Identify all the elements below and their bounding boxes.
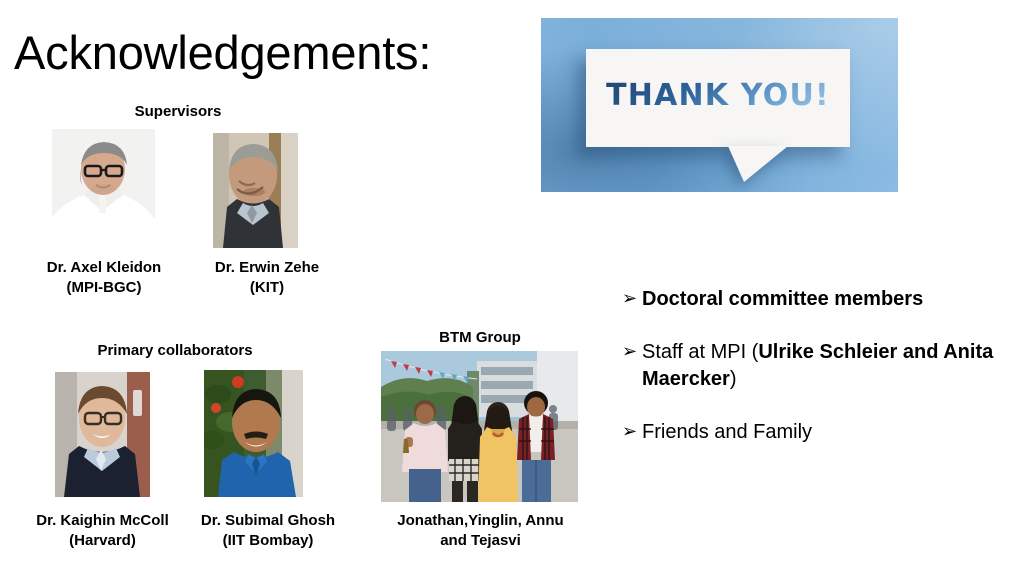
thank-you-text: THANK YOU!: [586, 78, 850, 113]
caption-affiliation-kaighin-mccoll: (Harvard): [10, 531, 195, 551]
bullet-tail-staff: ): [730, 368, 737, 390]
caption-kaighin-mccoll: Dr. Kaighin McColl (Harvard): [10, 511, 195, 552]
caption-subimal-ghosh: Dr. Subimal Ghosh (IIT Bombay): [178, 511, 358, 552]
caption-name-subimal-ghosh: Dr. Subimal Ghosh: [178, 511, 358, 531]
page-title: Acknowledgements:: [14, 28, 431, 77]
photo-kaighin-mccoll: [55, 372, 150, 497]
acknowledgement-bullet-list: ➢ Doctoral committee members ➢ Staff at …: [622, 286, 1004, 473]
caption-erwin-zehe: Dr. Erwin Zehe (KIT): [192, 258, 342, 299]
photo-btm-group: [381, 351, 578, 502]
thank-you-image: THANK YOU!: [541, 18, 898, 192]
caption-affiliation-axel-kleidon: (MPI-BGC): [20, 278, 188, 298]
bullet-text-staff-at-mpi: Staff at MPI (Ulrike Schleier and Anita …: [642, 339, 1004, 392]
caption-btm-line-1: Jonathan,Yinglin, Annu: [378, 511, 583, 531]
portrait-erwin-zehe-artwork: [213, 133, 298, 248]
bullet-text-friends-and-family: Friends and Family: [642, 419, 1004, 445]
list-item: ➢ Doctoral committee members: [622, 286, 1004, 312]
caption-axel-kleidon: Dr. Axel Kleidon (MPI-BGC): [20, 258, 188, 299]
list-item: ➢ Friends and Family: [622, 419, 1004, 445]
arrow-bullet-icon: ➢: [622, 339, 642, 365]
arrow-bullet-icon: ➢: [622, 419, 642, 445]
caption-name-kaighin-mccoll: Dr. Kaighin McColl: [10, 511, 195, 531]
bullet-lead-staff: Staff at MPI (: [642, 341, 758, 363]
caption-name-axel-kleidon: Dr. Axel Kleidon: [20, 258, 188, 278]
caption-affiliation-subimal-ghosh: (IIT Bombay): [178, 531, 358, 551]
caption-name-erwin-zehe: Dr. Erwin Zehe: [192, 258, 342, 278]
photo-axel-kleidon: [52, 129, 155, 245]
section-header-primary-collaborators: Primary collaborators: [45, 342, 305, 359]
caption-btm-group: Jonathan,Yinglin, Annu and Tejasvi: [378, 511, 583, 552]
portrait-kaighin-mccoll-artwork: [55, 372, 150, 497]
caption-affiliation-erwin-zehe: (KIT): [192, 278, 342, 298]
list-item: ➢ Staff at MPI (Ulrike Schleier and Anit…: [622, 339, 1004, 392]
bullet-text-doctoral-committee: Doctoral committee members: [642, 286, 1004, 312]
speech-bubble-shape: THANK YOU!: [586, 49, 850, 147]
group-photo-btm-artwork: [381, 351, 578, 502]
section-header-supervisors: Supervisors: [68, 103, 288, 120]
photo-subimal-ghosh: [204, 370, 303, 497]
section-header-btm-group: BTM Group: [400, 329, 560, 346]
arrow-bullet-icon: ➢: [622, 286, 642, 312]
photo-erwin-zehe: [213, 133, 298, 248]
portrait-subimal-ghosh-artwork: [204, 370, 303, 497]
caption-btm-line-2: and Tejasvi: [378, 531, 583, 551]
portrait-axel-kleidon-artwork: [52, 129, 155, 245]
